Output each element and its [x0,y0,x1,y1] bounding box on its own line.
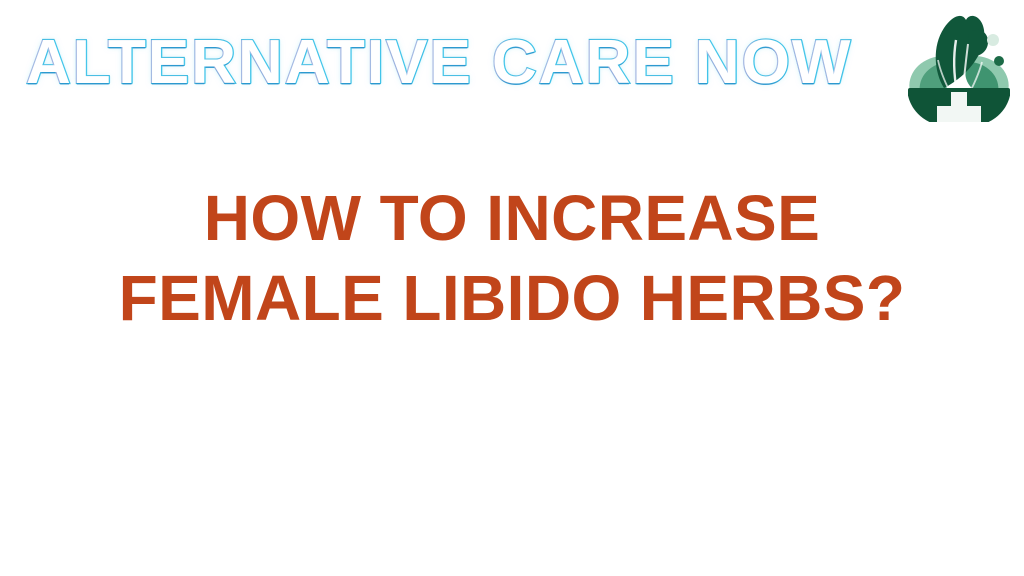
page-title: HOW TO INCREASE FEMALE LIBIDO HERBS? [0,178,1024,338]
accent-dot-dark [994,56,1004,66]
page-title-line-1: HOW TO INCREASE [0,178,1024,258]
page-title-line-2: FEMALE LIBIDO HERBS? [0,258,1024,338]
brand-wordmark: ALTERNATIVE CARE NOW [26,27,852,99]
slide-body-empty-area [0,345,1024,576]
herbal-mortar-cross-logo [900,0,1018,122]
brand-header: ALTERNATIVE CARE NOW [0,0,1024,126]
slide-canvas: ALTERNATIVE CARE NOW [0,0,1024,576]
accent-dot-light [987,34,999,46]
